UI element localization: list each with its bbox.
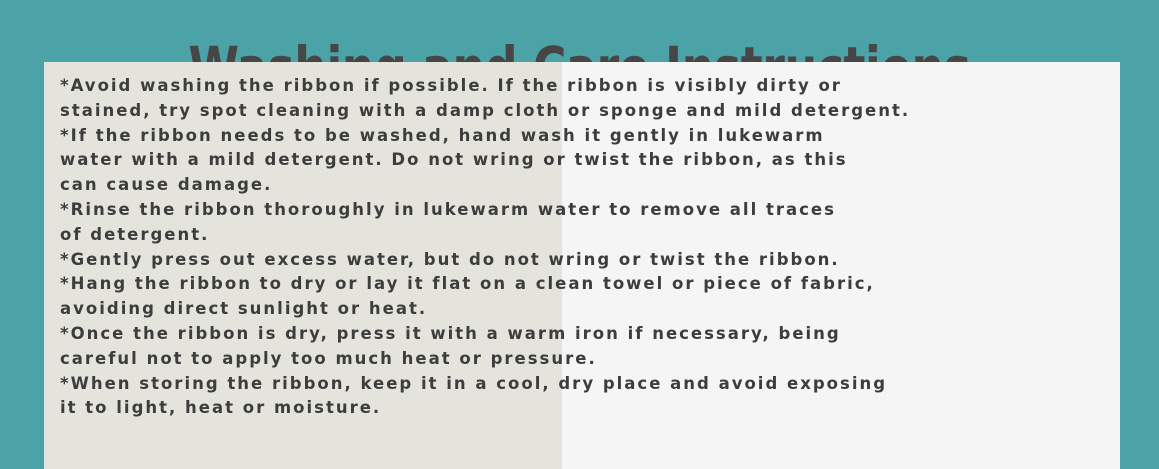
instruction-line: *When storing the ribbon, keep it in a c… <box>60 372 1114 397</box>
care-instructions-poster: Washing and Care Instructions *Avoid was… <box>0 0 1159 469</box>
instruction-line: *Gently press out excess water, but do n… <box>60 248 1114 273</box>
instruction-line: careful not to apply too much heat or pr… <box>60 347 1114 372</box>
instruction-line: *Hang the ribbon to dry or lay it flat o… <box>60 272 1114 297</box>
instruction-line: *If the ribbon needs to be washed, hand … <box>60 124 1114 149</box>
instruction-line: *Avoid washing the ribbon if possible. I… <box>60 74 1114 99</box>
instruction-line: of detergent. <box>60 223 1114 248</box>
instruction-line: can cause damage. <box>60 173 1114 198</box>
instructions-text-block: *Avoid washing the ribbon if possible. I… <box>60 74 1114 421</box>
instruction-line: *Once the ribbon is dry, press it with a… <box>60 322 1114 347</box>
instruction-line: avoiding direct sunlight or heat. <box>60 297 1114 322</box>
instruction-line: water with a mild detergent. Do not wrin… <box>60 148 1114 173</box>
instruction-line: it to light, heat or moisture. <box>60 396 1114 421</box>
instructions-panel: *Avoid washing the ribbon if possible. I… <box>44 62 1120 469</box>
instruction-line: *Rinse the ribbon thoroughly in lukewarm… <box>60 198 1114 223</box>
instruction-line: stained, try spot cleaning with a damp c… <box>60 99 1114 124</box>
